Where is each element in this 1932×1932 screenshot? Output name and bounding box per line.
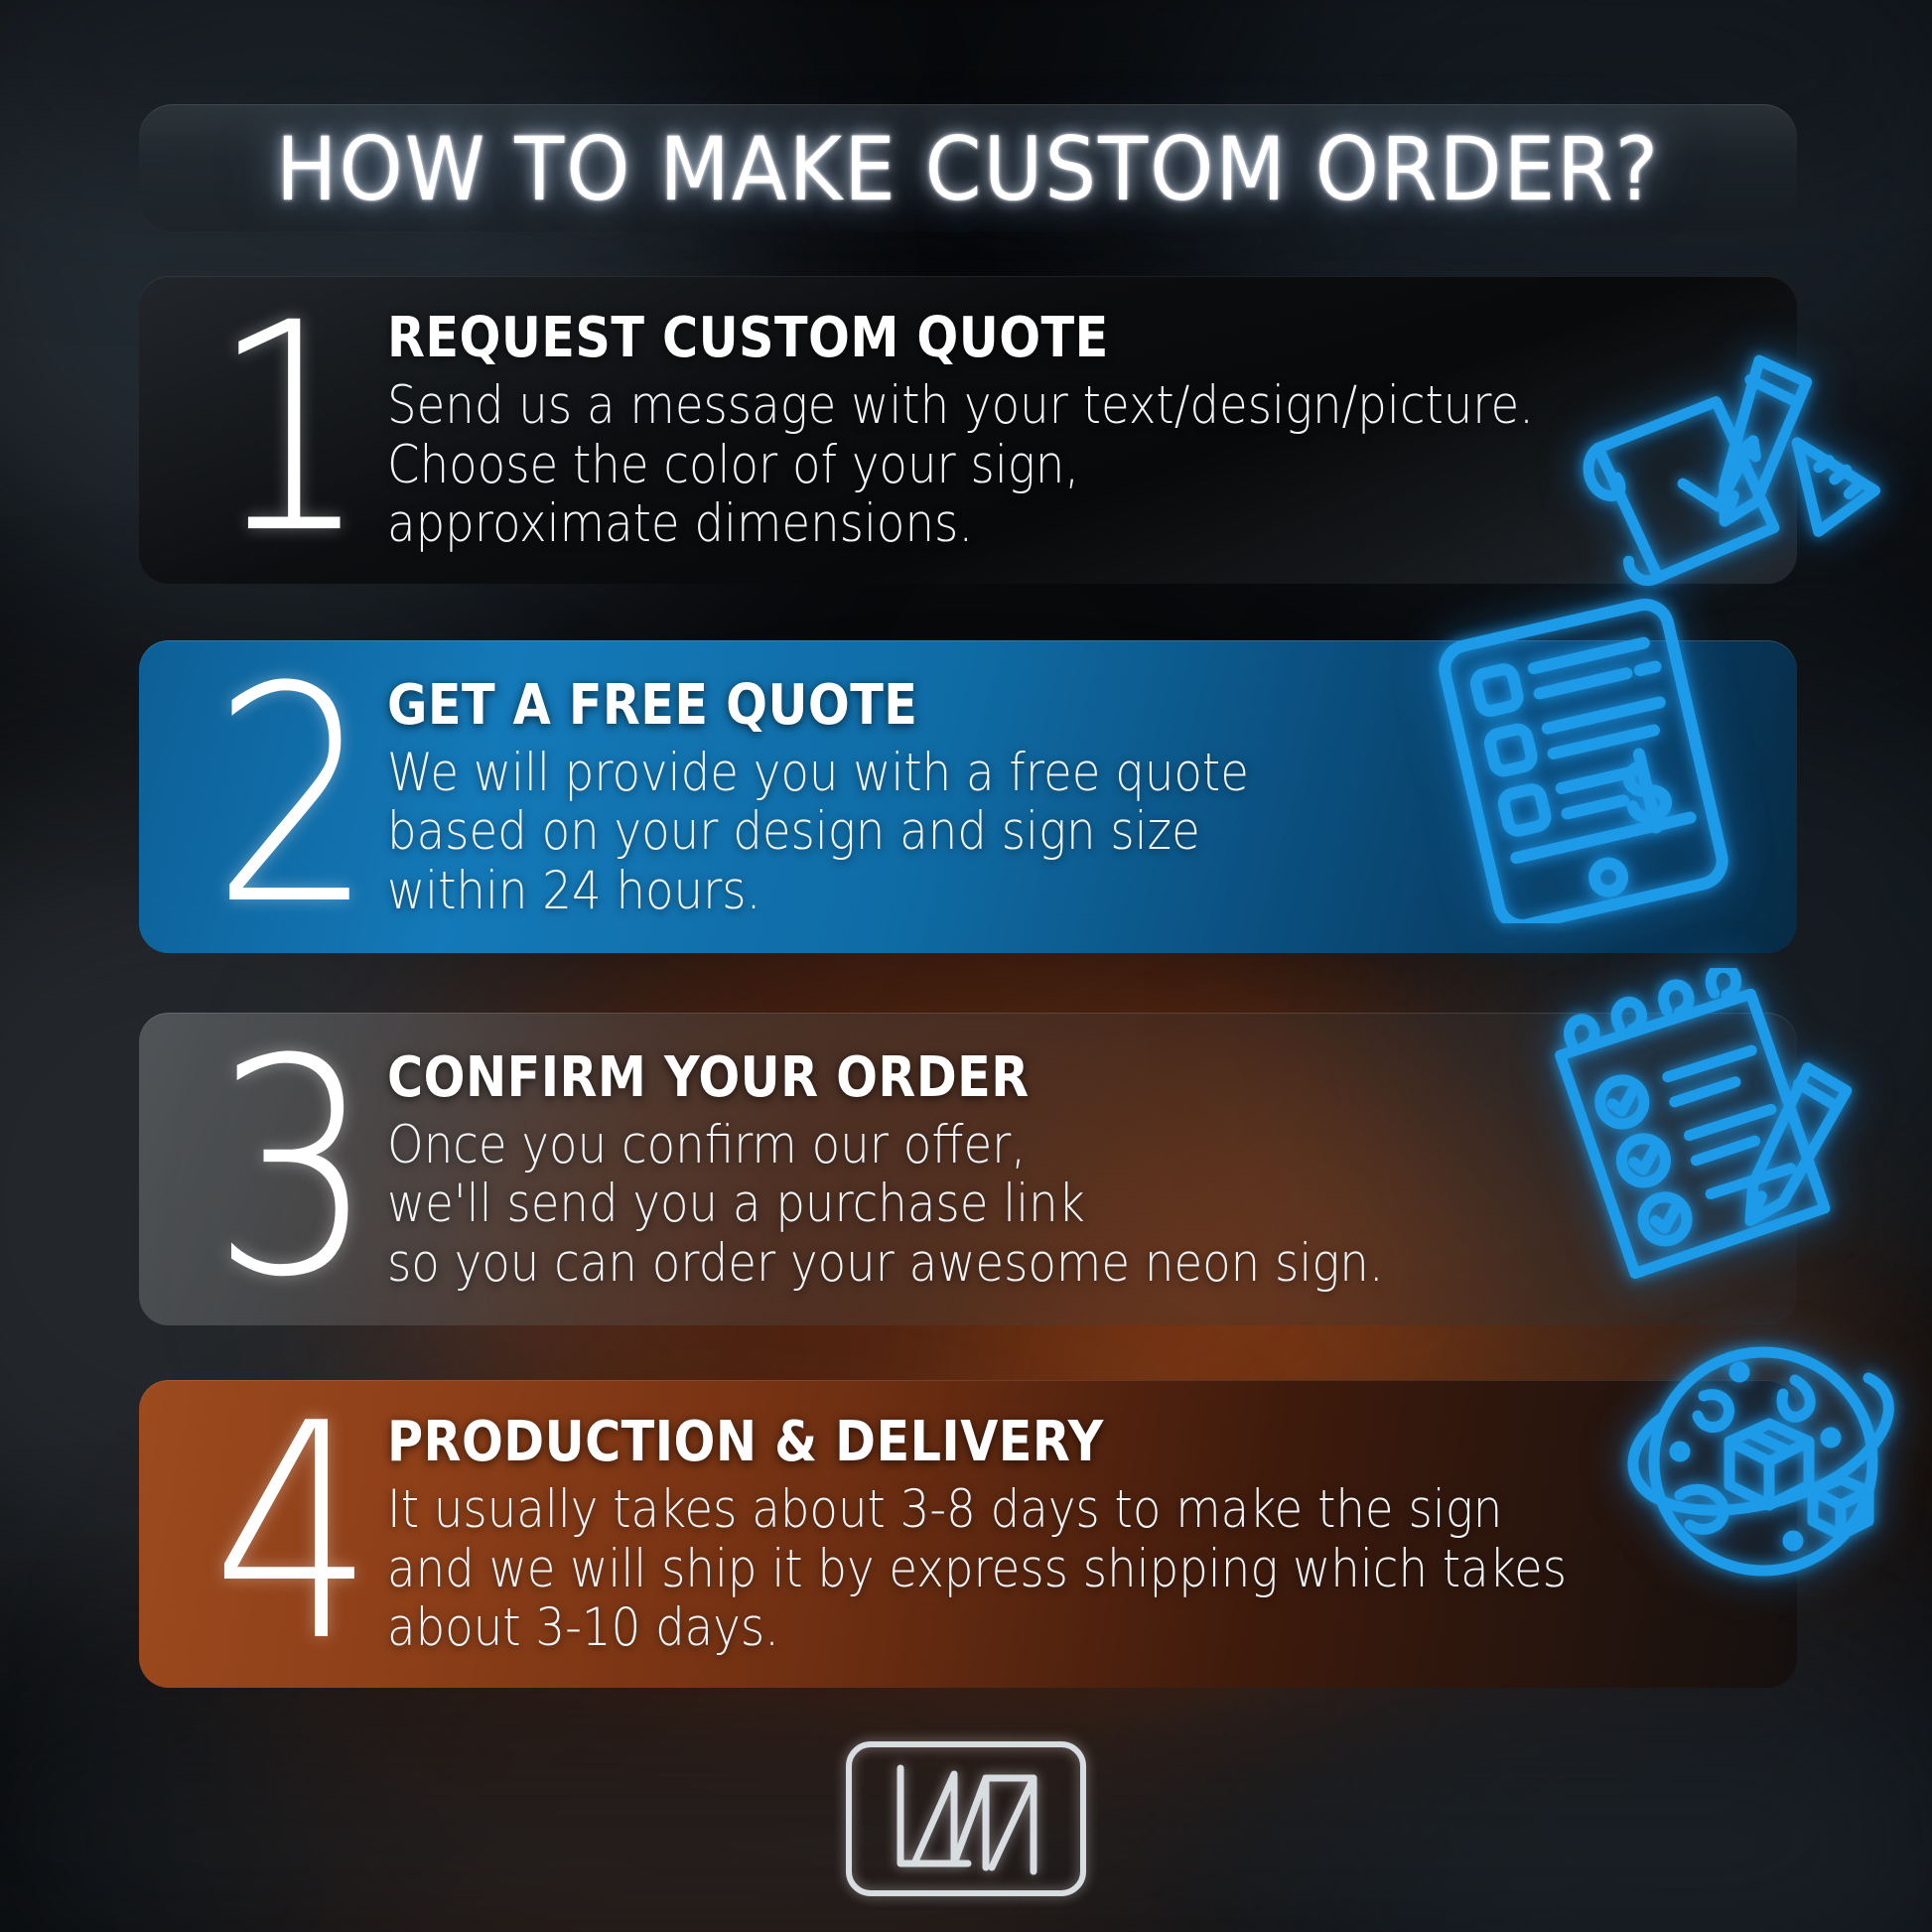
- step-number-4: 4: [211, 1412, 374, 1656]
- step-number-2: 2: [211, 675, 374, 919]
- step-line-1-1: Send us a message with your text/design/…: [387, 376, 1592, 435]
- step-line-3-3: so you can order your awesome neon sign.: [387, 1234, 1592, 1293]
- step-line-3-1: Once you confirm our offer,: [387, 1116, 1592, 1174]
- step-card-3: 3 CONFIRM YOUR ORDER Once you confirm ou…: [139, 1013, 1797, 1325]
- step-line-4-3: about 3-10 days.: [387, 1598, 1592, 1657]
- step-line-2-1: We will provide you with a free quote: [387, 744, 1592, 802]
- page-title: HOW TO MAKE CUSTOM ORDER?: [197, 105, 1738, 232]
- step-title-2: GET A FREE QUOTE: [387, 673, 1592, 738]
- ln-neon-monogram-logo: [837, 1732, 1095, 1916]
- step-card-4: 4 PRODUCTION & DELIVERY It usually takes…: [139, 1380, 1797, 1688]
- step-line-1-3: approximate dimensions.: [387, 494, 1592, 553]
- step-line-4-1: It usually takes about 3-8 days to make …: [387, 1480, 1592, 1539]
- step-number-3: 3: [211, 1047, 374, 1292]
- step-line-2-2: based on your design and sign size: [387, 802, 1592, 861]
- step-title-4: PRODUCTION & DELIVERY: [387, 1410, 1592, 1474]
- step-title-1: REQUEST CUSTOM QUOTE: [387, 306, 1592, 370]
- step-card-2: 2 GET A FREE QUOTE We will provide you w…: [139, 640, 1797, 953]
- step-card-1: 1 REQUEST CUSTOM QUOTE Send us a message…: [139, 276, 1797, 584]
- step-line-1-2: Choose the color of your sign,: [387, 436, 1592, 494]
- step-line-3-2: we'll send you a purchase link: [387, 1174, 1592, 1233]
- step-title-3: CONFIRM YOUR ORDER: [387, 1045, 1592, 1110]
- step-line-2-3: within 24 hours.: [387, 862, 1592, 920]
- step-line-4-2: and we will ship it by express shipping …: [387, 1540, 1592, 1598]
- step-number-1: 1: [211, 312, 369, 548]
